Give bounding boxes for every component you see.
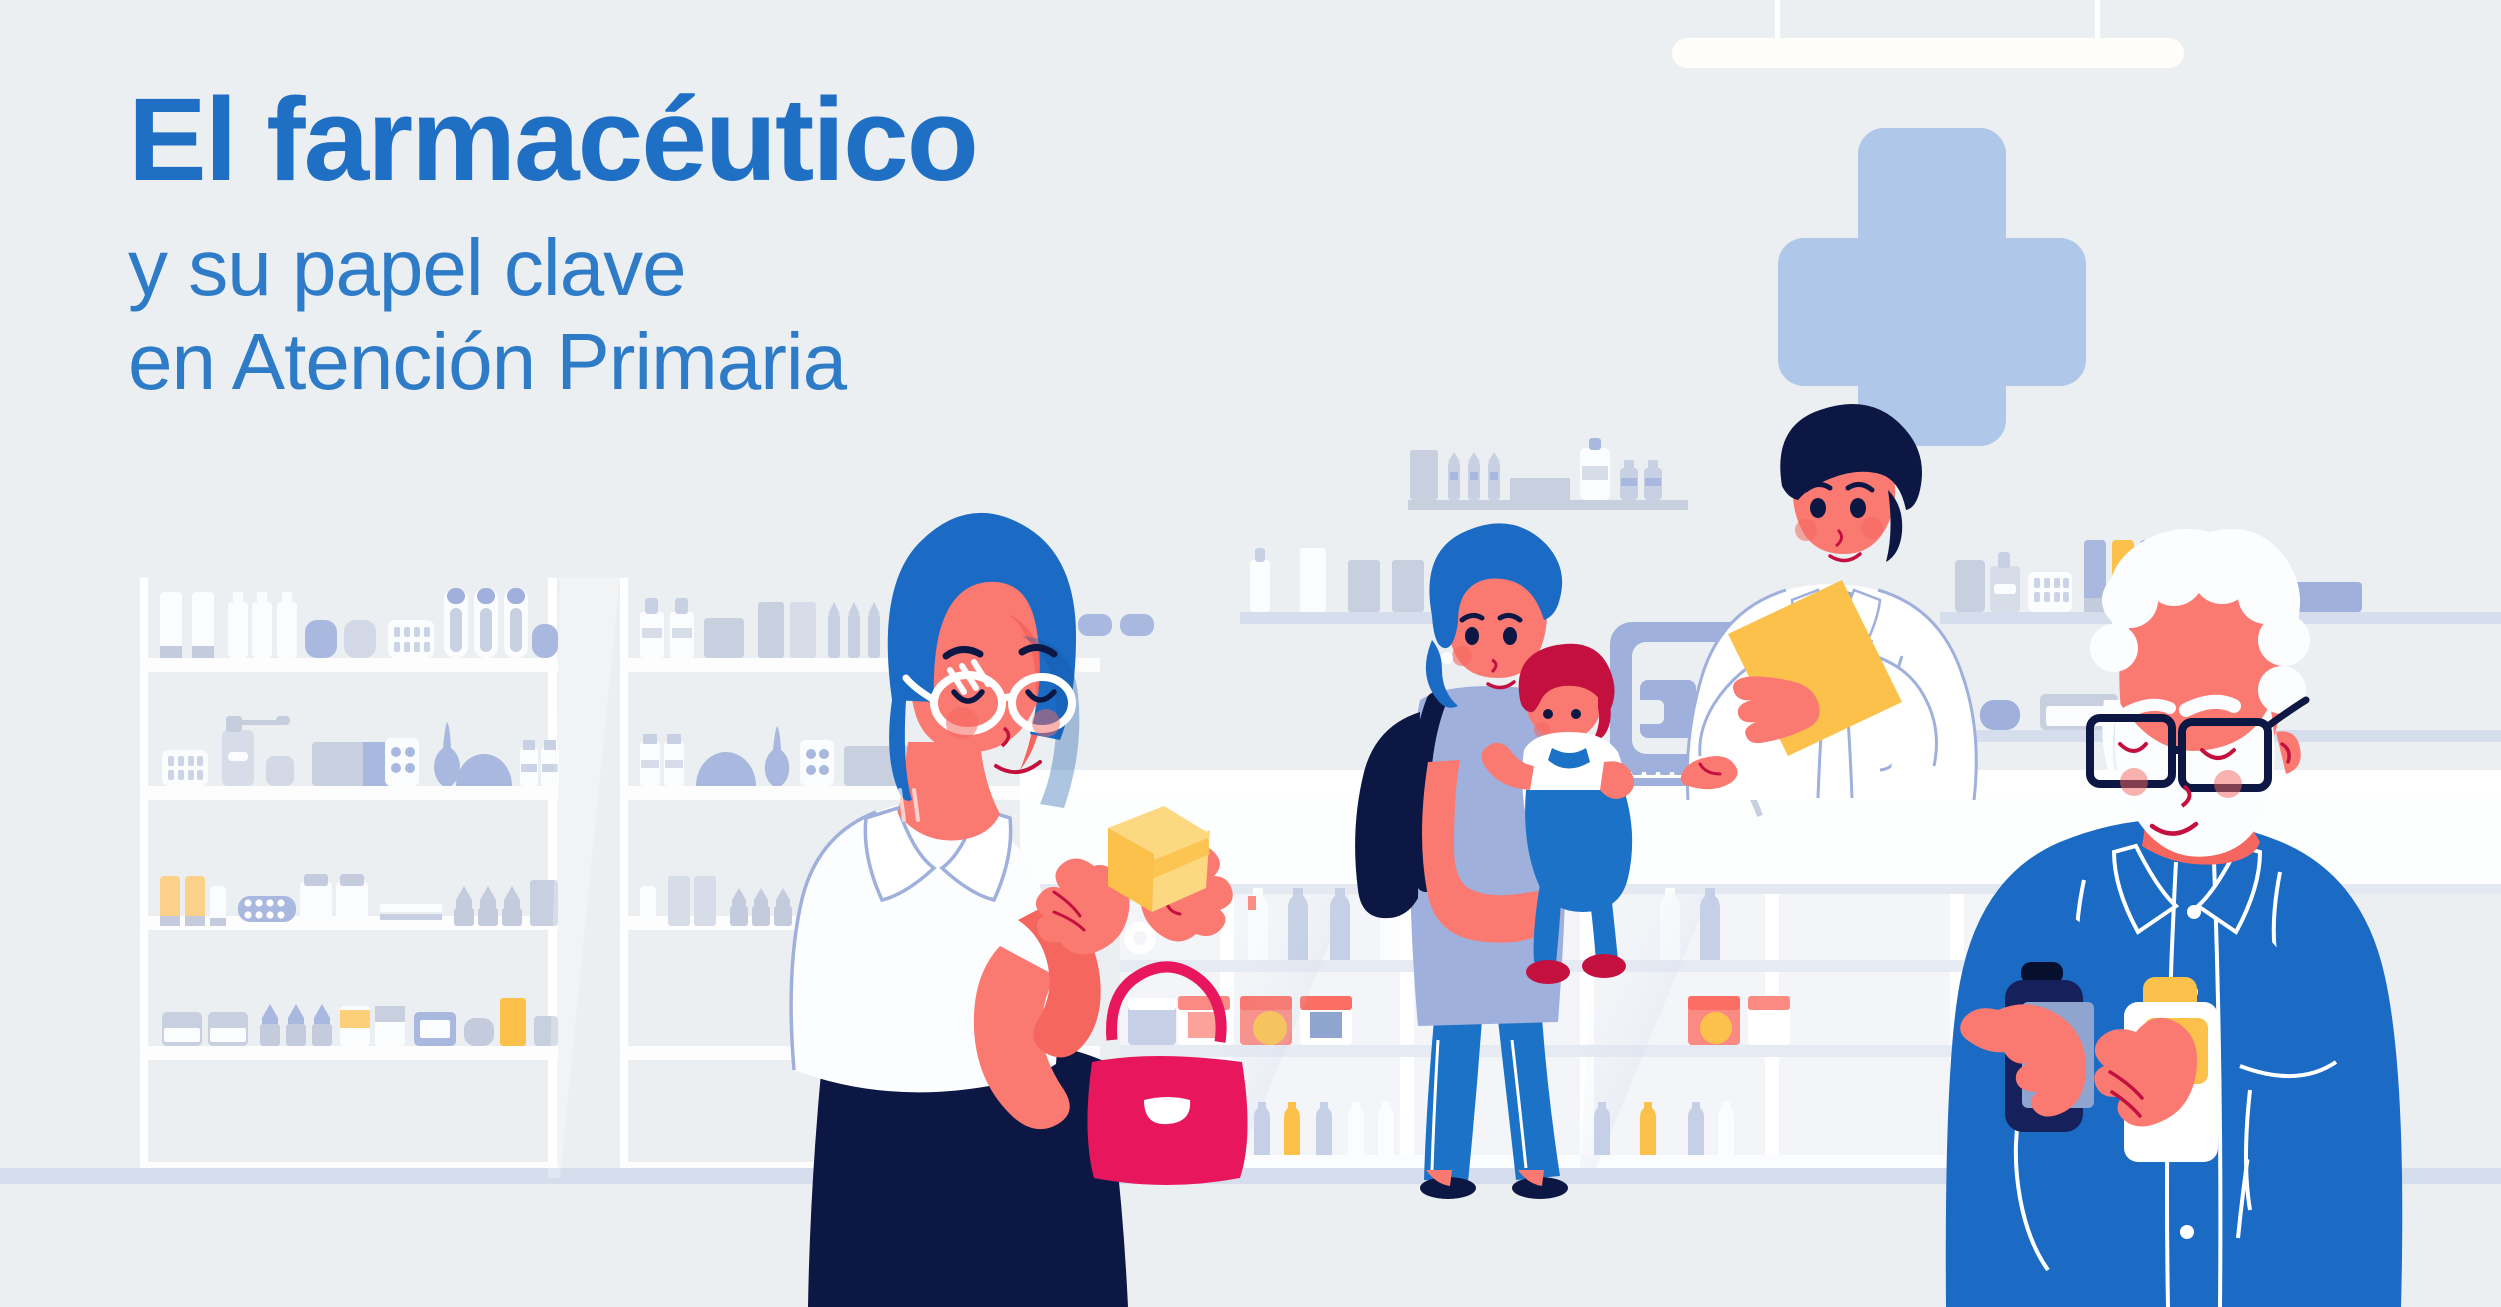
illustration-canvas: El farmacéutico y su papel clave en Aten… [0, 0, 2501, 1307]
pharmacy-scene-illustration [0, 0, 2501, 1307]
